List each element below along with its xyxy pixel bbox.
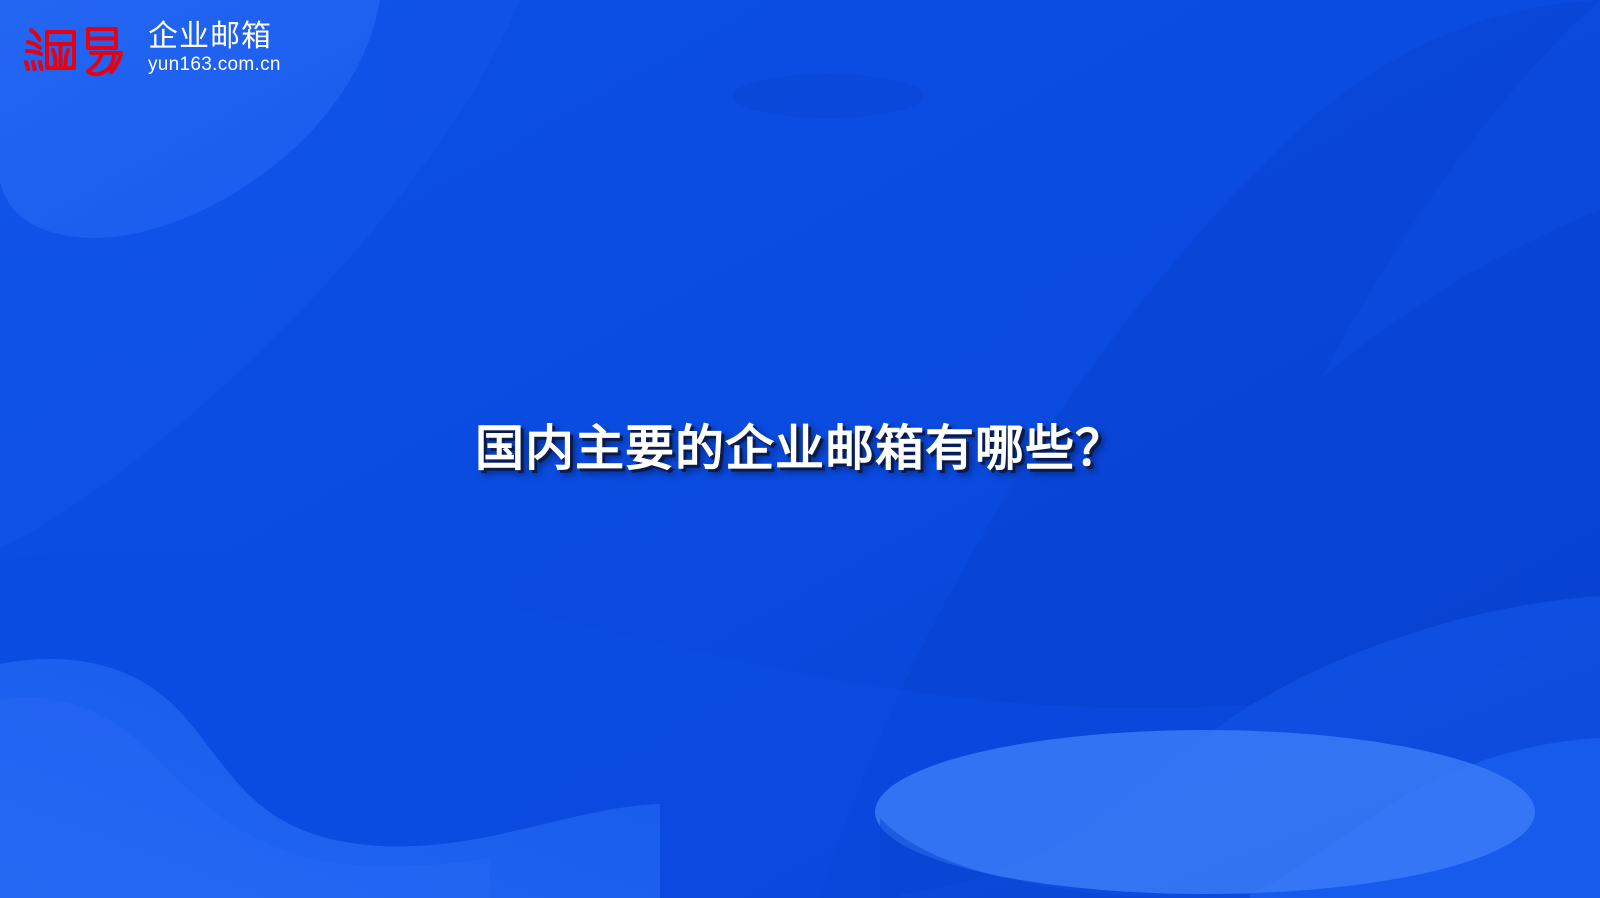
background-decoration (0, 0, 1600, 898)
shade-top-center (732, 74, 924, 118)
logo-product-name: 企业邮箱 (148, 21, 281, 53)
slide-canvas: 企业邮箱 yun163.com.cn 国内主要的企业邮箱有哪些？ (0, 0, 1600, 898)
netease-wordmark-icon (18, 20, 140, 78)
ellipse-bottom-right (875, 730, 1535, 894)
netease-logo[interactable]: 企业邮箱 yun163.com.cn (18, 20, 281, 78)
logo-text-block: 企业邮箱 yun163.com.cn (148, 21, 281, 77)
logo-domain: yun163.com.cn (148, 54, 281, 75)
